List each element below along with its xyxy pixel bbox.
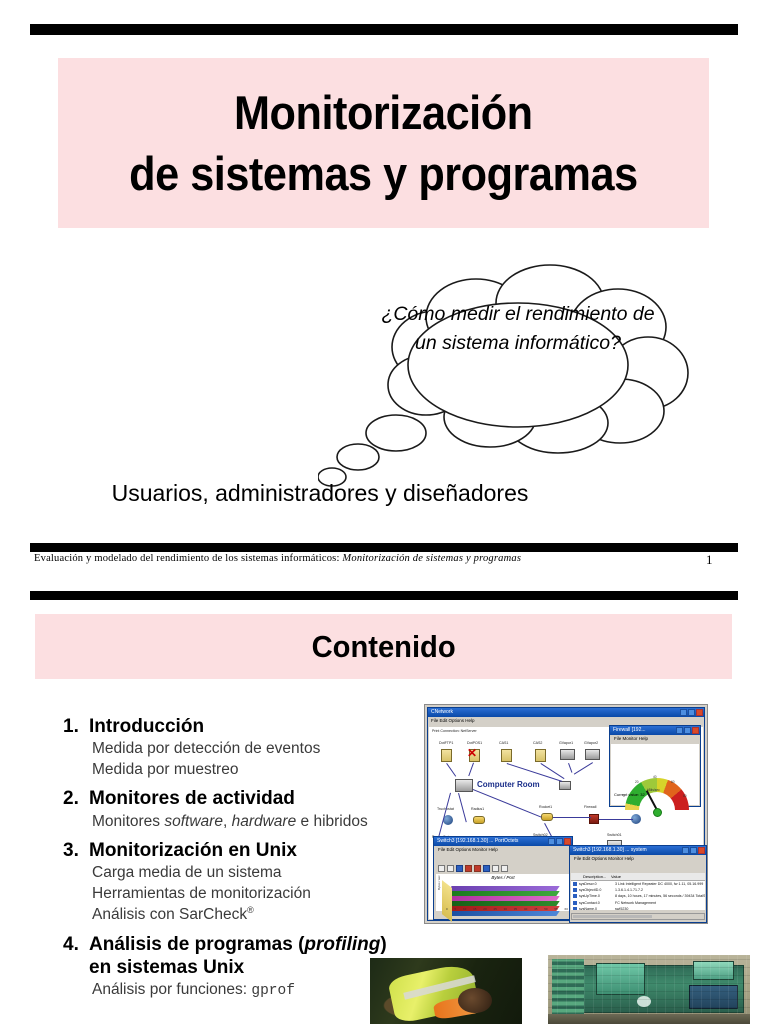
- toc-title-3: Monitorización en Unix: [89, 839, 393, 862]
- toc-sub-1-2: Medida por muestreo: [92, 760, 393, 780]
- mib-titlebar[interactable]: Switch3 [192.168.1.30] ... system: [570, 846, 706, 855]
- thought-cloud-shape: [318, 255, 718, 490]
- device-icon-3[interactable]: [535, 749, 546, 762]
- xtick-10: 50: [544, 907, 547, 911]
- gauge-hub: [653, 808, 662, 817]
- node-label-firewall: Firewall: [584, 805, 596, 809]
- device-down-x-icon: ✕: [467, 747, 477, 759]
- node-label-switch01: Switch01: [607, 833, 622, 837]
- device-icon-0[interactable]: [441, 749, 452, 762]
- network-monitor-screenshot: CNetwork File Edit Options Help Print Co…: [424, 704, 708, 924]
- toc-entry-3: 3. Monitorización en Unix: [63, 839, 393, 862]
- computer-room-switch-icon[interactable]: [455, 779, 473, 792]
- toc-item-3: 3. Monitorización en Unix Carga media de…: [63, 839, 393, 926]
- mib-value-1: 1.3.6.1.4.1.71.7.2: [615, 888, 705, 892]
- link-5: [574, 762, 593, 775]
- gauge-tick-3: 60: [671, 780, 675, 784]
- content-heading: Contenido: [311, 629, 455, 665]
- gauge-titlebar[interactable]: Firewall [192...: [610, 726, 700, 735]
- footer-prefix: Evaluación y modelado del rendimiento de…: [34, 553, 340, 564]
- stop-icon[interactable]: [465, 865, 472, 872]
- record-icon-2[interactable]: [474, 865, 481, 872]
- link-6: [458, 793, 467, 822]
- page-number: 1: [706, 552, 713, 568]
- link-3: [540, 763, 564, 779]
- toc-number-3: 3.: [63, 839, 89, 862]
- mib-key-1: sysObjectID.0: [579, 888, 615, 892]
- device-label-0: DotFTP1: [439, 741, 453, 745]
- device-label-5: GVapor2: [584, 741, 598, 745]
- content-heading-banner: Contenido: [35, 614, 732, 679]
- toc-sub-2-1: Monitores software, hardware e hibridos: [92, 812, 393, 832]
- toc-sub-3-1: Carga media de un sistema: [92, 863, 393, 883]
- firewall-gauge-window[interactable]: Firewall [192... File Monitor Help 0 20: [609, 725, 701, 807]
- toc-number-4: 4.: [63, 933, 89, 956]
- cnetwork-title: CNetwork: [431, 709, 453, 715]
- mib-key-3: sysContact.0: [579, 901, 615, 905]
- toc-number-1: 1.: [63, 715, 89, 738]
- mib-value-3: FC Network Management: [615, 901, 705, 905]
- mib-minimize-icon[interactable]: [682, 847, 689, 854]
- registered-mark-icon: ®: [247, 905, 254, 915]
- chart-close-icon[interactable]: [564, 838, 571, 845]
- gauge-title: Firewall [192...: [613, 727, 646, 733]
- device-icon-2[interactable]: [501, 749, 512, 762]
- toc-sub-3-2: Herramientas de monitorización: [92, 884, 393, 904]
- title-banner: Monitorización de sistemas y programas: [58, 58, 709, 228]
- device-icon-5[interactable]: [585, 749, 600, 760]
- mib-key-2: sysUpTime.0: [579, 894, 615, 898]
- maximize-icon[interactable]: [688, 709, 695, 716]
- mib-system-window[interactable]: Switch3 [192.168.1.30] ... system File E…: [569, 845, 707, 923]
- device-label-4: GVapor1: [559, 741, 573, 745]
- mib-col-0: Description...: [571, 874, 611, 879]
- mib-menubar[interactable]: File Edit Options Monitor Help: [571, 855, 705, 863]
- top-rule-divider: [30, 24, 738, 35]
- footer-italic: Monitorización de sistemas y programas: [342, 553, 521, 564]
- footer-top-rule: [30, 543, 738, 552]
- secondary-switch-icon[interactable]: [559, 781, 571, 790]
- chart-type-icon[interactable]: [456, 865, 463, 872]
- mib-col-1: Value: [611, 874, 621, 879]
- link-9: [553, 817, 591, 818]
- gauge-dial-label: kBits/sec: [647, 788, 660, 792]
- xtick-5: 25: [493, 907, 496, 911]
- gauge-close-icon[interactable]: [692, 727, 699, 734]
- footer-bottom-rule: [30, 591, 738, 600]
- toc-entry-1: 1. Introducción: [63, 715, 393, 738]
- mib-maximize-icon[interactable]: [690, 847, 697, 854]
- edit-icon[interactable]: [447, 865, 454, 872]
- gauge-tick-4: 80: [683, 794, 687, 798]
- xtick-12: 60: [565, 907, 568, 911]
- toc-title-1: Introducción: [89, 715, 393, 738]
- link-1: [468, 763, 474, 776]
- thought-cloud-text: ¿Cómo medir el rendimiento de un sistema…: [378, 300, 658, 357]
- chart-ylabel: Bytes / sec: [437, 875, 441, 890]
- minimize-icon[interactable]: [680, 709, 687, 716]
- toc-title-2: Monitores de actividad: [89, 787, 393, 810]
- mib-value-4: swI5230: [615, 907, 705, 910]
- grid-icon[interactable]: [492, 865, 499, 872]
- link-10: [599, 819, 633, 820]
- toc-sub-1-1: Medida por detección de eventos: [92, 739, 393, 759]
- cnetwork-menubar[interactable]: File Edit Options Help: [428, 717, 704, 725]
- mib-table-header: Description... Value: [571, 873, 705, 881]
- mib-horizontal-scrollbar[interactable]: [571, 913, 705, 920]
- device-label-3: CAS2: [533, 741, 542, 745]
- xtick-7: 35: [514, 907, 517, 911]
- mib-title: Switch3 [192.168.1.30] ... system: [573, 847, 647, 853]
- toc-sub-4-1: Análisis por funciones: gprof: [92, 980, 393, 1001]
- toc-number-2: 2.: [63, 787, 89, 810]
- chart-minimize-icon[interactable]: [548, 838, 555, 845]
- footer-text: Evaluación y modelado del rendimiento de…: [34, 553, 521, 564]
- slide-1: Monitorización de sistemas y programas: [0, 0, 768, 600]
- gauge-menubar[interactable]: File Monitor Help: [611, 735, 699, 743]
- xtick-0: 0: [446, 907, 448, 911]
- toc-item-4: 4. Análisis de programas (profiling) en …: [63, 933, 393, 1001]
- mib-key-0: sysDescr.0: [579, 882, 615, 886]
- close-icon[interactable]: [696, 709, 703, 716]
- mib-value-2: 8 days, 10 hours, 17 minutes, 56 seconds…: [615, 894, 705, 898]
- title-line-1: Monitorización: [234, 82, 533, 143]
- gauge-canvas: 0 20 40 60 80 kBits/sec Current value: 3…: [611, 744, 699, 805]
- mib-close-icon[interactable]: [698, 847, 705, 854]
- chart-plot-title: Bytes / Port: [436, 875, 570, 880]
- chart-maximize-icon[interactable]: [556, 838, 563, 845]
- xtick-8: 40: [524, 907, 527, 911]
- xtick-1: 5: [454, 907, 456, 911]
- device-label-1: DotPOS1: [467, 741, 482, 745]
- device-label-2: CAS1: [499, 741, 508, 745]
- table-of-contents: 1. Introducción Medida por detección de …: [63, 708, 393, 1002]
- table-row[interactable]: sysName.0swI5230: [571, 906, 705, 910]
- field-technician-photo: [370, 958, 522, 1024]
- title-line-2: de sistemas y programas: [129, 143, 638, 204]
- mib-window-controls[interactable]: [682, 847, 705, 854]
- rocket-icon[interactable]: [541, 813, 553, 821]
- firewall-icon[interactable]: [589, 814, 599, 824]
- window-controls[interactable]: [680, 709, 703, 716]
- chart-left-wall: [442, 880, 452, 922]
- series-band-6: [448, 911, 559, 916]
- circuit-board-photo: [548, 955, 750, 1024]
- xtick-4: 20: [483, 907, 486, 911]
- zoom-icon[interactable]: [483, 865, 490, 872]
- node-label-radius: Radius1: [471, 807, 484, 811]
- toc-item-1: 1. Introducción Medida por detección de …: [63, 715, 393, 780]
- computer-room-label: Computer Room: [477, 780, 540, 789]
- xtick-3: 15: [473, 907, 476, 911]
- xtick-2: 10: [463, 907, 466, 911]
- mib-value-0: 3 Link Intelligent Repeater DC 4000, fw …: [615, 882, 705, 886]
- chart-xaxis: 0 5 10 15 20 25 30 35 40 45 50 55 60: [446, 907, 568, 911]
- chart-window-controls[interactable]: [548, 838, 571, 845]
- slide-subtitle: Usuarios, administradores y diseñadores: [0, 480, 640, 507]
- gauge-minimize-icon[interactable]: [676, 727, 683, 734]
- link-4: [568, 763, 572, 773]
- xtick-6: 30: [504, 907, 507, 911]
- mib-key-4: sysName.0: [579, 907, 615, 910]
- gauge-tick-1: 20: [635, 780, 639, 784]
- port-octets-chart-window[interactable]: Switch3 [192.168.1.30] ... PortOctets Fi…: [433, 836, 573, 920]
- gauge-maximize-icon[interactable]: [684, 727, 691, 734]
- chart-menubar[interactable]: File Edit Options Monitor Help: [435, 846, 571, 854]
- mib-node-icon: [573, 882, 577, 886]
- toc-sub-3-3: Análisis con SarCheck®: [92, 905, 393, 925]
- slide-page: Monitorización de sistemas y programas: [0, 0, 768, 1024]
- chart-title-text: Switch3 [192.168.1.30] ... PortOctets: [437, 838, 518, 844]
- cnetwork-titlebar[interactable]: CNetwork: [428, 708, 704, 717]
- mib-node-icon: [573, 901, 577, 905]
- toc-title-4: Análisis de programas (profiling) en sis…: [89, 933, 393, 979]
- chart-toolbar[interactable]: [435, 863, 571, 873]
- status-text: Print Connection: NetServer: [432, 729, 477, 733]
- gauge-tick-2: 40: [653, 775, 657, 779]
- legend-icon[interactable]: [501, 865, 508, 872]
- photo-right-base: [548, 1014, 750, 1024]
- gauge-caption: Current value: 32: [614, 792, 645, 797]
- xtick-9: 45: [534, 907, 537, 911]
- chart-titlebar[interactable]: Switch3 [192.168.1.30] ... PortOctets: [434, 837, 572, 846]
- toc-entry-2: 2. Monitores de actividad: [63, 787, 393, 810]
- link-8: [473, 789, 542, 818]
- chart-plot-area: Bytes / Port Bytes / sec 0 5 10 15 20: [436, 874, 570, 911]
- toc-entry-4: 4. Análisis de programas (profiling) en …: [63, 933, 393, 979]
- mib-node-icon: [573, 907, 577, 910]
- link-0: [446, 763, 456, 777]
- toc-item-2: 2. Monitores de actividad Monitores soft…: [63, 787, 393, 831]
- new-icon[interactable]: [438, 865, 445, 872]
- mib-table-body[interactable]: sysDescr.03 Link Intelligent Repeater DC…: [571, 881, 705, 910]
- photo-left-head: [458, 988, 491, 1013]
- mib-node-icon: [573, 888, 577, 892]
- radius-icon[interactable]: [473, 816, 485, 824]
- node-label-rocket: Rocket1: [539, 805, 552, 809]
- xtick-11: 55: [554, 907, 557, 911]
- gauge-window-controls[interactable]: [676, 727, 699, 734]
- thought-cloud: ¿Cómo medir el rendimiento de un sistema…: [318, 255, 718, 490]
- mib-node-icon: [573, 894, 577, 898]
- device-icon-4[interactable]: [560, 749, 575, 760]
